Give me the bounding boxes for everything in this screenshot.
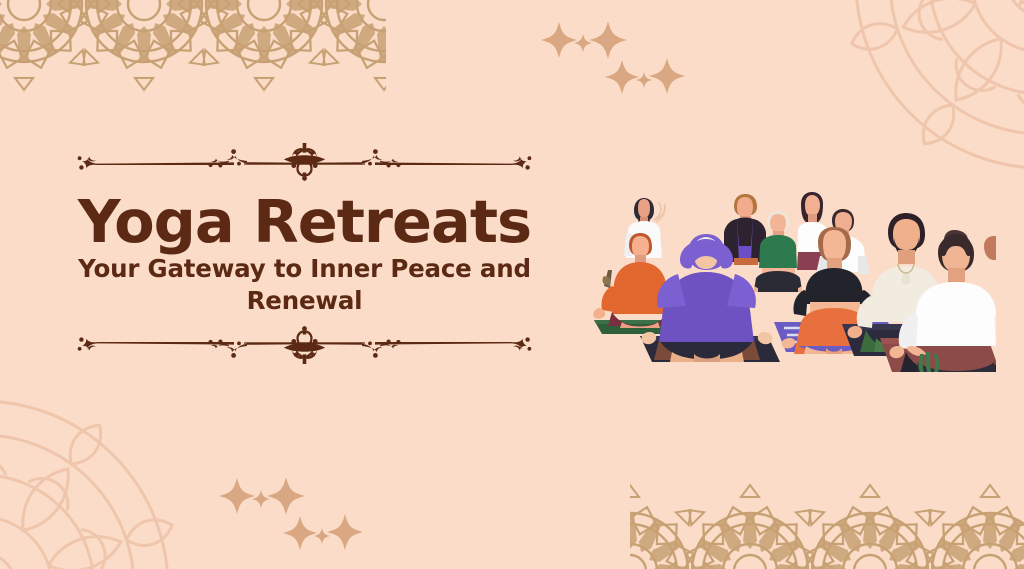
mandala-border-bottom-right xyxy=(630,463,1024,569)
ornamental-divider-top xyxy=(62,140,547,186)
banner-canvas: Yoga Retreats Your Gateway to Inner Peac… xyxy=(0,0,1024,569)
sparkle-cluster-top xyxy=(534,22,694,104)
person-partial-right-back xyxy=(984,236,996,260)
group-meditation-illustration xyxy=(588,186,996,372)
ornamental-divider-bottom xyxy=(62,321,547,367)
page-subtitle: Your Gateway to Inner Peace and Renewal xyxy=(70,253,540,317)
sparkle-cluster-bottom xyxy=(212,478,372,560)
mandala-border-top-left xyxy=(0,0,386,112)
hero-text-block: Yoga Retreats Your Gateway to Inner Peac… xyxy=(62,140,547,367)
potted-plant xyxy=(919,352,940,372)
page-title: Yoga Retreats xyxy=(62,192,547,251)
